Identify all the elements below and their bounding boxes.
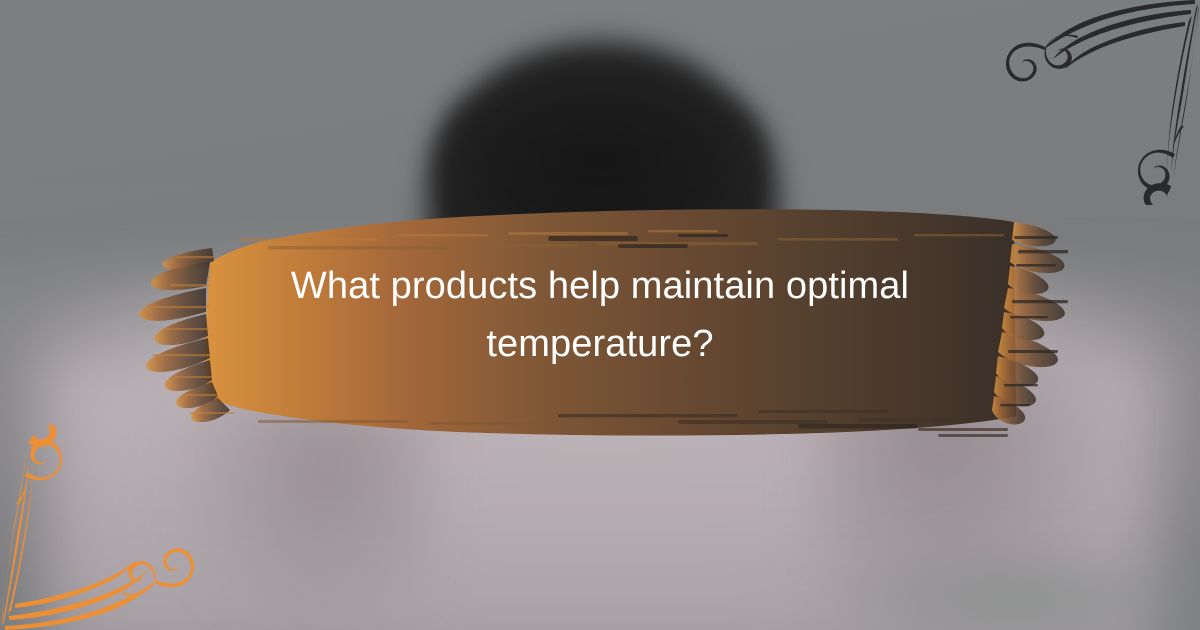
banner-canvas: What products help maintain optimal temp… [0,0,1200,630]
banner-headline: What products help maintain optimal temp… [180,258,1020,374]
headline-line-1: What products help maintain optimal [180,258,1020,316]
headline-line-2: temperature? [180,316,1020,374]
